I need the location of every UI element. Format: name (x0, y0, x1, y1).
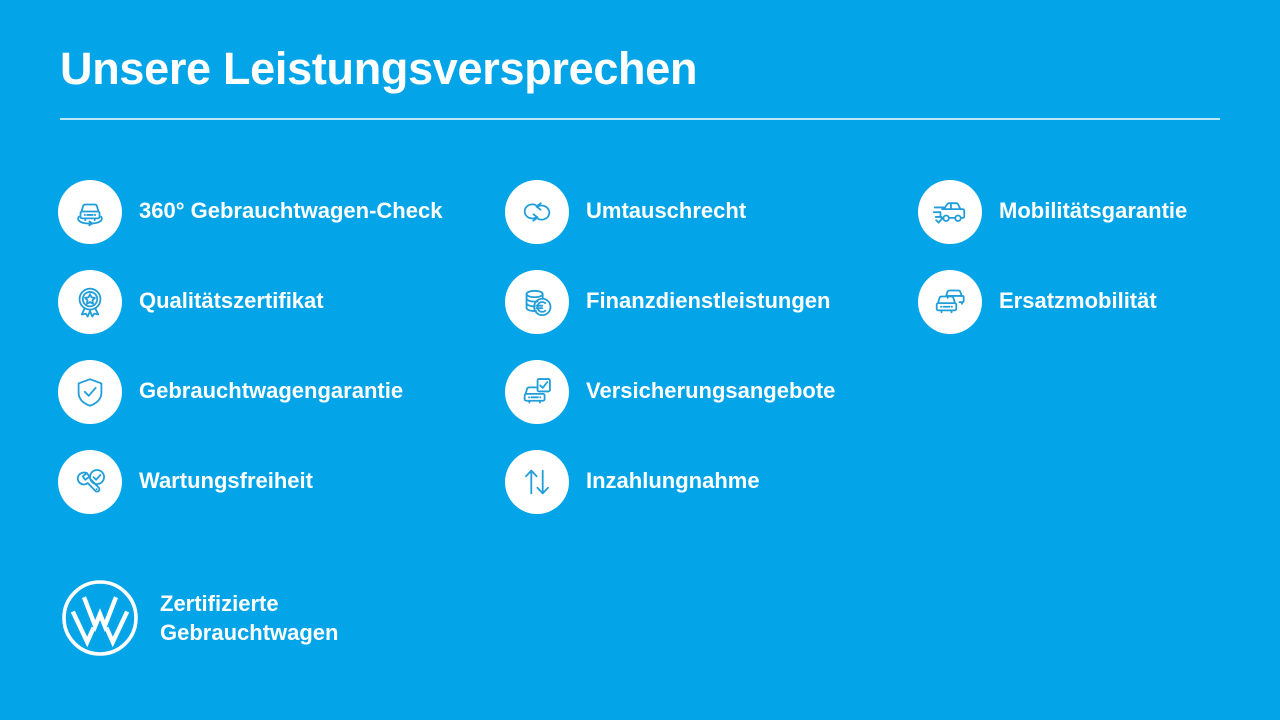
promise-column-3: Mobilitätsgarantie (918, 180, 1268, 360)
promise-label: Inzahlungnahme (586, 467, 760, 495)
brand-line-1: Zertifizierte (160, 589, 338, 618)
title-divider (60, 118, 1220, 120)
promise-item-wartungsfreiheit[interactable]: Wartungsfreiheit (58, 450, 488, 540)
promise-item-versicherungsangebote[interactable]: Versicherungsangebote (505, 360, 905, 450)
promise-column-1: 360° Gebrauchtwagen-Check Qualitätszerti… (58, 180, 488, 540)
coins-euro-icon (505, 270, 569, 334)
brand-text: Zertifizierte Gebrauchtwagen (160, 589, 338, 647)
brand-lockup: Zertifizierte Gebrauchtwagen (60, 578, 338, 658)
up-down-arrows-icon (505, 450, 569, 514)
promise-label: Gebrauchtwagengarantie (139, 377, 403, 405)
promise-item-gebrauchtwagengarantie[interactable]: Gebrauchtwagengarantie (58, 360, 488, 450)
promise-item-umtauschrecht[interactable]: Umtauschrecht (505, 180, 905, 270)
promise-label: Wartungsfreiheit (139, 467, 313, 495)
car-speed-lines-icon (918, 180, 982, 244)
promise-item-inzahlungnahme[interactable]: Inzahlungnahme (505, 450, 905, 540)
promise-item-ersatzmobilitaet[interactable]: Ersatzmobilität (918, 270, 1268, 360)
promise-item-gebrauchtwagen-check[interactable]: 360° Gebrauchtwagen-Check (58, 180, 488, 270)
promise-label: Qualitätszertifikat (139, 287, 324, 315)
car-360-check-icon (58, 180, 122, 244)
promise-label: Umtauschrecht (586, 197, 746, 225)
page-title: Unsere Leistungsversprechen (60, 44, 1220, 94)
promise-item-mobilitaetsgarantie[interactable]: Mobilitätsgarantie (918, 180, 1268, 270)
promise-item-finanzdienstleistungen[interactable]: Finanzdienstleistungen (505, 270, 905, 360)
brand-line-2: Gebrauchtwagen (160, 618, 338, 647)
exchange-arrows-icon (505, 180, 569, 244)
shield-check-icon (58, 360, 122, 424)
promise-item-qualitaetszertifikat[interactable]: Qualitätszertifikat (58, 270, 488, 360)
volkswagen-logo (60, 578, 140, 658)
award-rosette-icon (58, 270, 122, 334)
promise-label: Mobilitätsgarantie (999, 197, 1187, 225)
promise-label: Versicherungsangebote (586, 377, 835, 405)
two-cars-icon (918, 270, 982, 334)
car-checkbox-icon (505, 360, 569, 424)
promise-label: Finanzdienstleistungen (586, 287, 830, 315)
promise-column-2: Umtauschrecht Finanz (505, 180, 905, 540)
promise-label: 360° Gebrauchtwagen-Check (139, 197, 442, 225)
promise-label: Ersatzmobilität (999, 287, 1157, 315)
slide-root: Unsere Leistungsversprechen (0, 0, 1280, 720)
slide-header: Unsere Leistungsversprechen (60, 44, 1220, 120)
wrench-check-icon (58, 450, 122, 514)
